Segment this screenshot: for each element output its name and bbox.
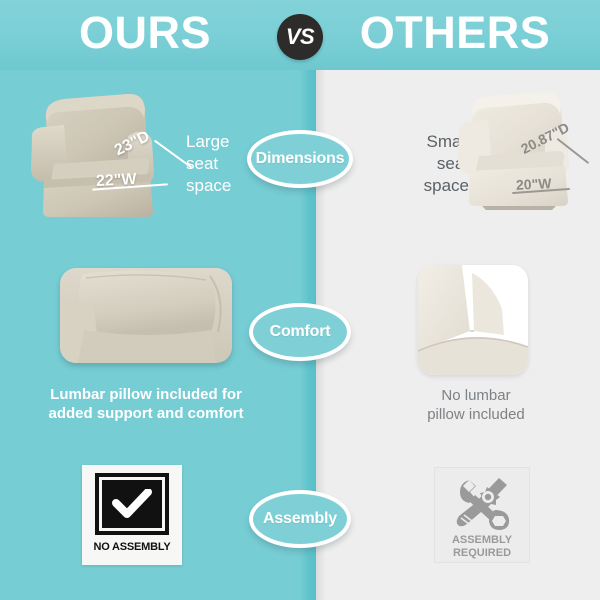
- comfort-caption-others: No lumbar pillow included: [360, 386, 592, 424]
- no-assembly-badge-ours: NO ASSEMBLY: [82, 465, 182, 565]
- vs-badge-label: VS: [286, 24, 314, 50]
- vs-badge: VS: [277, 14, 323, 60]
- assembly-required-label: ASSEMBLY REQUIRED: [452, 534, 512, 560]
- chair-image-ours: [24, 88, 174, 218]
- header-band: OURS OTHERS VS: [0, 0, 600, 70]
- comfort-caption-ours: Lumbar pillow included for added support…: [10, 385, 282, 423]
- no-assembly-box: [95, 473, 169, 535]
- category-pill-assembly[interactable]: Assembly: [249, 490, 351, 548]
- page-title-others: OTHERS: [320, 7, 590, 59]
- width-label-ours: 22"W: [96, 171, 137, 191]
- comparison-infographic: OURS OTHERS VS 22"W 23"D: [0, 0, 600, 600]
- category-pill-dimensions-label: Dimensions: [256, 150, 345, 168]
- lumbar-pillow-photo-ours: [60, 268, 232, 363]
- category-pill-assembly-label: Assembly: [263, 510, 337, 528]
- wrench-screwdriver-gear-icon: [451, 474, 513, 532]
- no-pillow-photo-others: [418, 265, 528, 375]
- category-pill-comfort-label: Comfort: [270, 323, 331, 341]
- category-pill-dimensions[interactable]: Dimensions: [247, 130, 353, 188]
- checkmark-icon: [112, 489, 152, 519]
- assembly-required-badge-others: ASSEMBLY REQUIRED: [434, 467, 530, 563]
- category-pill-comfort[interactable]: Comfort: [249, 303, 351, 361]
- page-title-ours: OURS: [0, 7, 290, 59]
- width-label-others: 20"W: [516, 175, 552, 193]
- no-assembly-label: NO ASSEMBLY: [93, 541, 170, 553]
